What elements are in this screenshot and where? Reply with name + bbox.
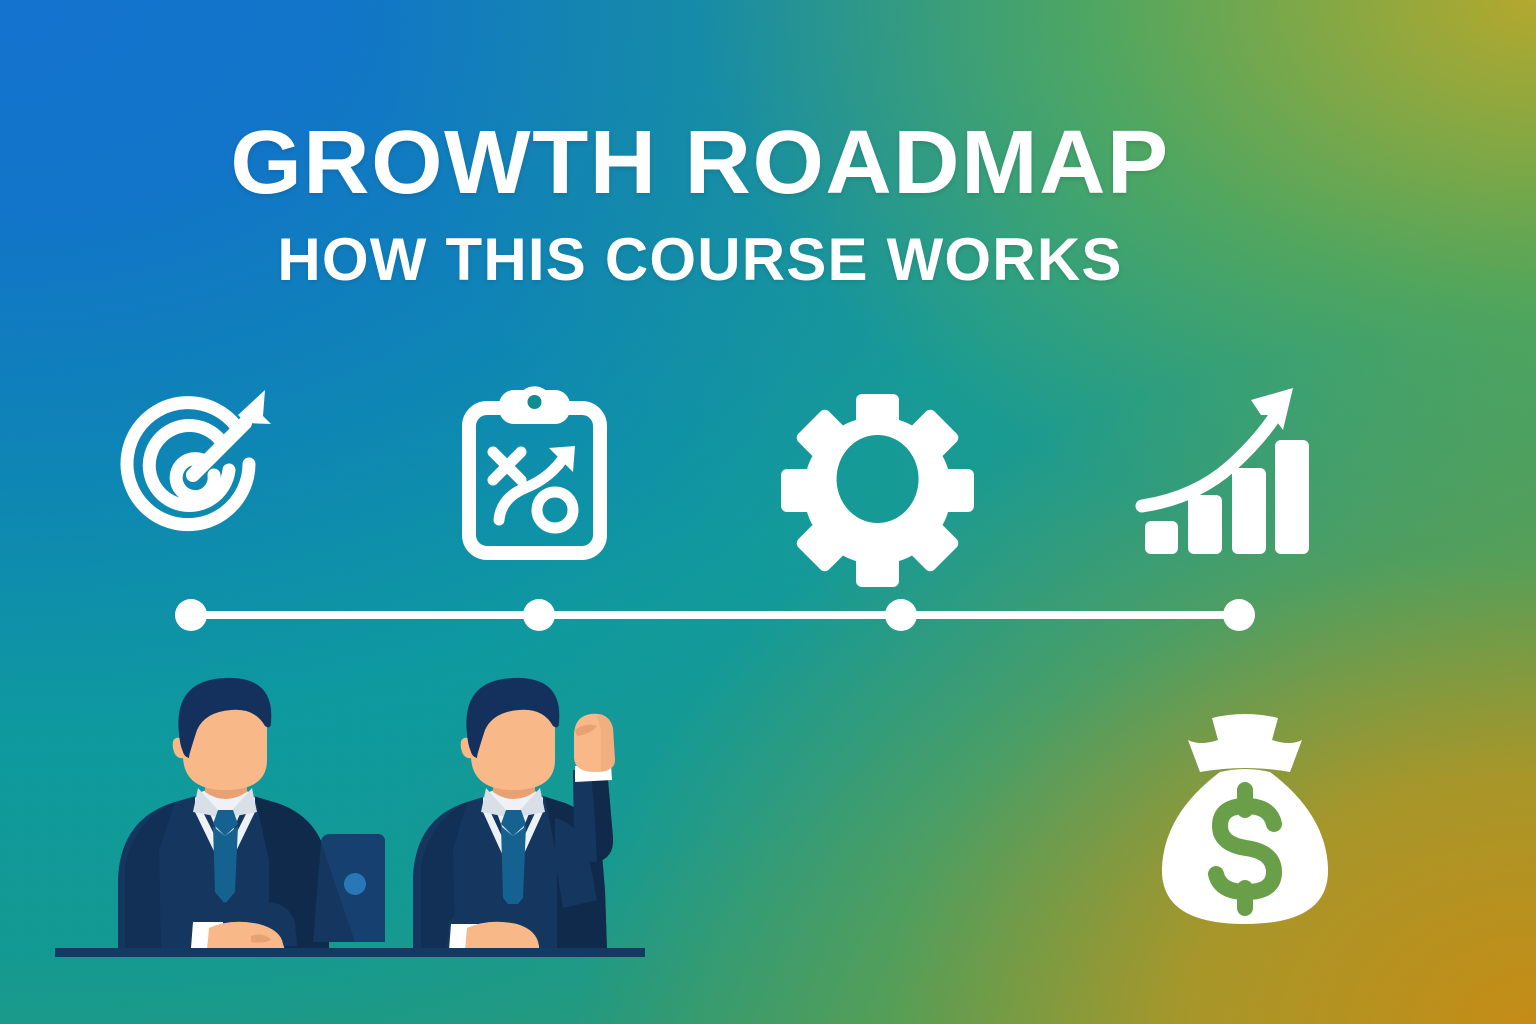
gear-icon [790, 388, 965, 563]
milestone-step-2 [447, 388, 622, 563]
milestone-icon-row [0, 388, 1536, 563]
milestone-step-1 [105, 388, 280, 563]
milestone-step-4 [1133, 388, 1308, 563]
slide-canvas: GROWTH ROADMAP HOW THIS COURSE WORKS [0, 0, 1536, 1024]
timeline-dot-2[interactable] [523, 599, 555, 631]
milestone-step-3 [790, 388, 965, 563]
timeline-dot-4[interactable] [1223, 599, 1255, 631]
timeline-dot-3[interactable] [885, 599, 917, 631]
illustration-layer [0, 640, 1536, 1024]
page-subtitle: HOW THIS COURSE WORKS [0, 230, 1400, 290]
strategy-board-icon [447, 388, 622, 563]
timeline-dot-1[interactable] [175, 599, 207, 631]
timeline-track [190, 611, 1240, 619]
roadmap-timeline [175, 595, 1255, 635]
page-title: GROWTH ROADMAP [0, 118, 1414, 208]
money-bag-icon [1150, 710, 1340, 930]
businessman-celebrating [385, 660, 645, 970]
target-arrow-icon [105, 388, 280, 563]
title-block: GROWTH ROADMAP HOW THIS COURSE WORKS [0, 118, 1400, 290]
businessman-at-laptop [55, 660, 385, 970]
growth-chart-icon [1133, 388, 1308, 563]
